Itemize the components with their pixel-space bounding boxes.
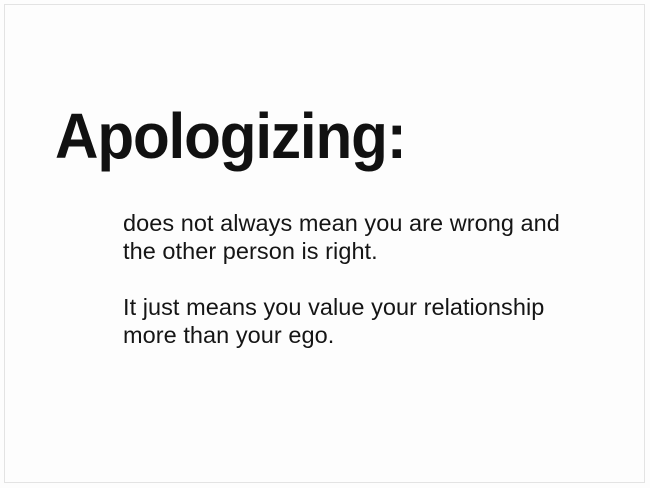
quote-body: does not always mean you are wrong and t… xyxy=(123,209,623,349)
quote-poster: Apologizing: does not always mean you ar… xyxy=(0,0,650,488)
quote-paragraph: does not always mean you are wrong and t… xyxy=(123,209,623,265)
quote-paragraph: It just means you value your relationshi… xyxy=(123,293,623,349)
page-title: Apologizing: xyxy=(55,104,406,168)
